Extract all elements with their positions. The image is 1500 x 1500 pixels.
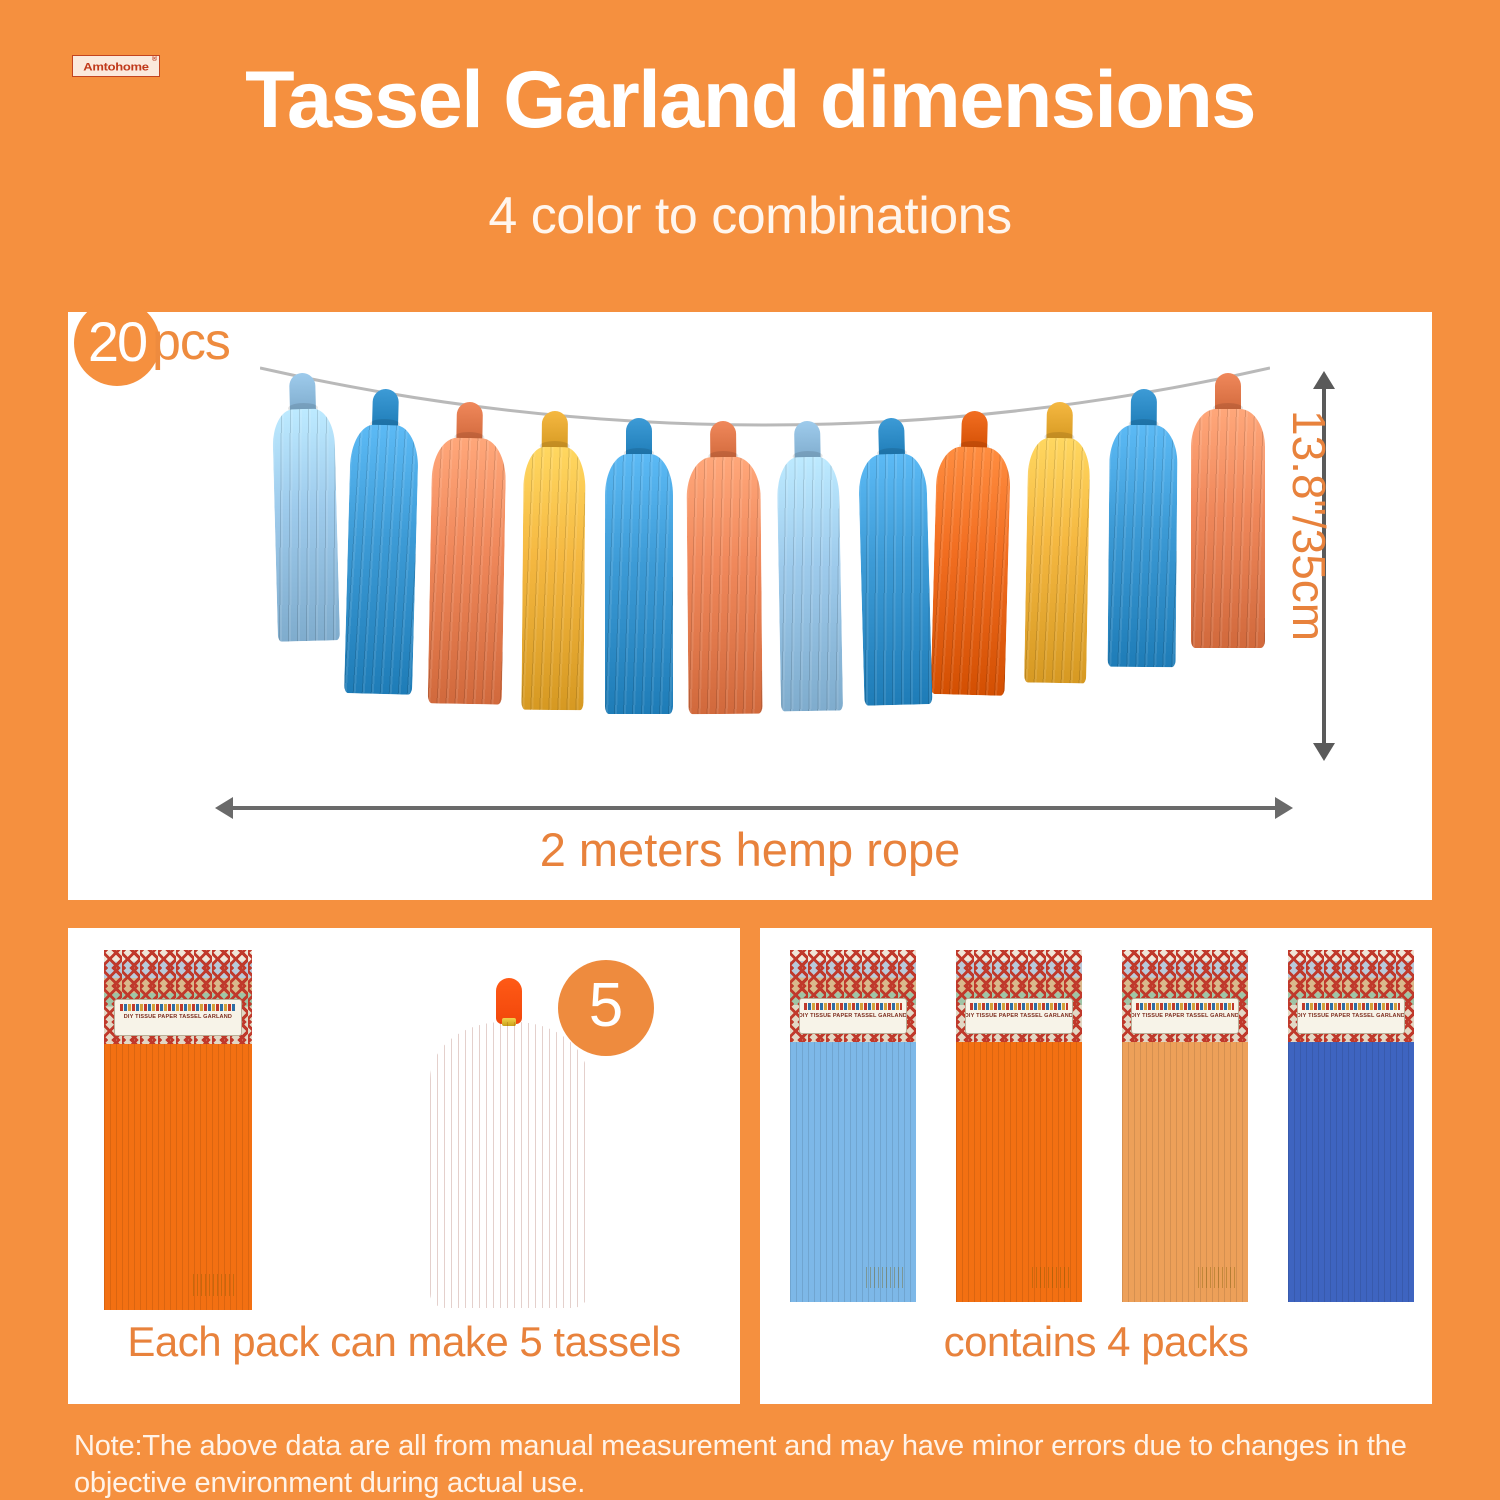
- tassel-fringe: [686, 456, 762, 714]
- tassel-gold: [1024, 401, 1091, 683]
- tassel-count-badge-number: 5: [589, 970, 623, 1041]
- single-pack-caption: Each pack can make 5 tassels: [68, 1318, 740, 1366]
- pack-banner: DIY TISSUE PAPER TASSEL GARLAND: [1297, 998, 1405, 1035]
- four-packs-caption: contains 4 packs: [760, 1318, 1432, 1366]
- quantity-badge-unit: pcs: [152, 312, 230, 372]
- pack-gold-tie: [1032, 1267, 1070, 1288]
- quantity-badge-circle: 20: [74, 300, 160, 386]
- tassel-fringe: [430, 1022, 588, 1308]
- pack-banner: DIY TISSUE PAPER TASSEL GARLAND: [114, 999, 241, 1036]
- tassel-blue: [344, 388, 420, 695]
- pack-banner-text: DIY TISSUE PAPER TASSEL GARLAND: [124, 1015, 232, 1021]
- pack-body-tissue: [1122, 1042, 1248, 1302]
- quantity-badge-number: 20: [88, 309, 146, 374]
- tassel-fringe: [1191, 409, 1265, 648]
- pack-body-tissue: [104, 1044, 252, 1310]
- pack-card-apricot-pack: DIY TISSUE PAPER TASSEL GARLAND: [1122, 950, 1248, 1302]
- pack-card-orange-pack: DIY TISSUE PAPER TASSEL GARLAND: [956, 950, 1082, 1302]
- pack-header-pattern: DIY TISSUE PAPER TASSEL GARLAND: [1288, 950, 1414, 1042]
- tassel-blue: [1107, 389, 1177, 668]
- tassel-fringe: [272, 408, 340, 642]
- tassel-coral: [686, 420, 763, 714]
- tassel-fringe: [1024, 437, 1090, 683]
- tassel-coral: [1191, 373, 1265, 648]
- tassel-fringe: [428, 437, 507, 704]
- page-subtitle: 4 color to combinations: [0, 186, 1500, 246]
- pack-card-orange-pack: DIY TISSUE PAPER TASSEL GARLAND: [104, 950, 252, 1310]
- pack-body-tissue: [1288, 1042, 1414, 1302]
- pack-banner-text: DIY TISSUE PAPER TASSEL GARLAND: [799, 1013, 907, 1019]
- tassel-light-blue: [271, 372, 340, 642]
- tassel-blue: [605, 418, 673, 714]
- pack-banner-text: DIY TISSUE PAPER TASSEL GARLAND: [1297, 1013, 1405, 1019]
- garland-illustration: [68, 312, 1432, 900]
- pack-header-pattern: DIY TISSUE PAPER TASSEL GARLAND: [790, 950, 916, 1042]
- tassel-fringe: [858, 453, 933, 706]
- page-title: Tassel Garland dimensions: [0, 58, 1500, 143]
- pack-banner: DIY TISSUE PAPER TASSEL GARLAND: [965, 998, 1073, 1035]
- tassel-fringe: [344, 424, 419, 695]
- pack-gold-tie: [1198, 1267, 1236, 1288]
- pack-gold-tie: [193, 1274, 237, 1296]
- pack-body-tissue: [956, 1042, 1082, 1302]
- tassel-gold: [521, 411, 586, 711]
- tassel-fringe: [777, 456, 843, 711]
- tassel-orange: [931, 410, 1012, 696]
- vertical-dimension-label: 13.8"/35cm: [1282, 410, 1336, 730]
- pack-banner: DIY TISSUE PAPER TASSEL GARLAND: [1131, 998, 1239, 1035]
- tassel-fringe: [605, 454, 673, 714]
- pack-header-pattern: DIY TISSUE PAPER TASSEL GARLAND: [956, 950, 1082, 1042]
- pack-gold-tie: [866, 1267, 904, 1288]
- tassel-count-badge: 5: [558, 960, 654, 1056]
- pack-banner-text: DIY TISSUE PAPER TASSEL GARLAND: [1131, 1013, 1239, 1019]
- pack-card-light-blue-pack: DIY TISSUE PAPER TASSEL GARLAND: [790, 950, 916, 1302]
- pack-header-pattern: DIY TISSUE PAPER TASSEL GARLAND: [1122, 950, 1248, 1042]
- pack-banner: DIY TISSUE PAPER TASSEL GARLAND: [799, 998, 907, 1035]
- pack-header-pattern: DIY TISSUE PAPER TASSEL GARLAND: [104, 950, 252, 1044]
- tassel-fringe: [1107, 425, 1177, 668]
- footer-note: Note:The above data are all from manual …: [74, 1428, 1466, 1500]
- tassel-light-blue: [776, 420, 843, 711]
- pack-banner-text: DIY TISSUE PAPER TASSEL GARLAND: [965, 1013, 1073, 1019]
- tassel-fringe: [521, 447, 585, 711]
- pack-card-royal-blue-pack: DIY TISSUE PAPER TASSEL GARLAND: [1288, 950, 1414, 1302]
- horizontal-dimension-arrow: [232, 806, 1276, 810]
- tassel-fringe: [931, 446, 1011, 696]
- tassel-coral: [428, 401, 507, 704]
- tassel-blue: [857, 417, 932, 706]
- pack-body-tissue: [790, 1042, 916, 1302]
- horizontal-dimension-label: 2 meters hemp rope: [68, 822, 1432, 877]
